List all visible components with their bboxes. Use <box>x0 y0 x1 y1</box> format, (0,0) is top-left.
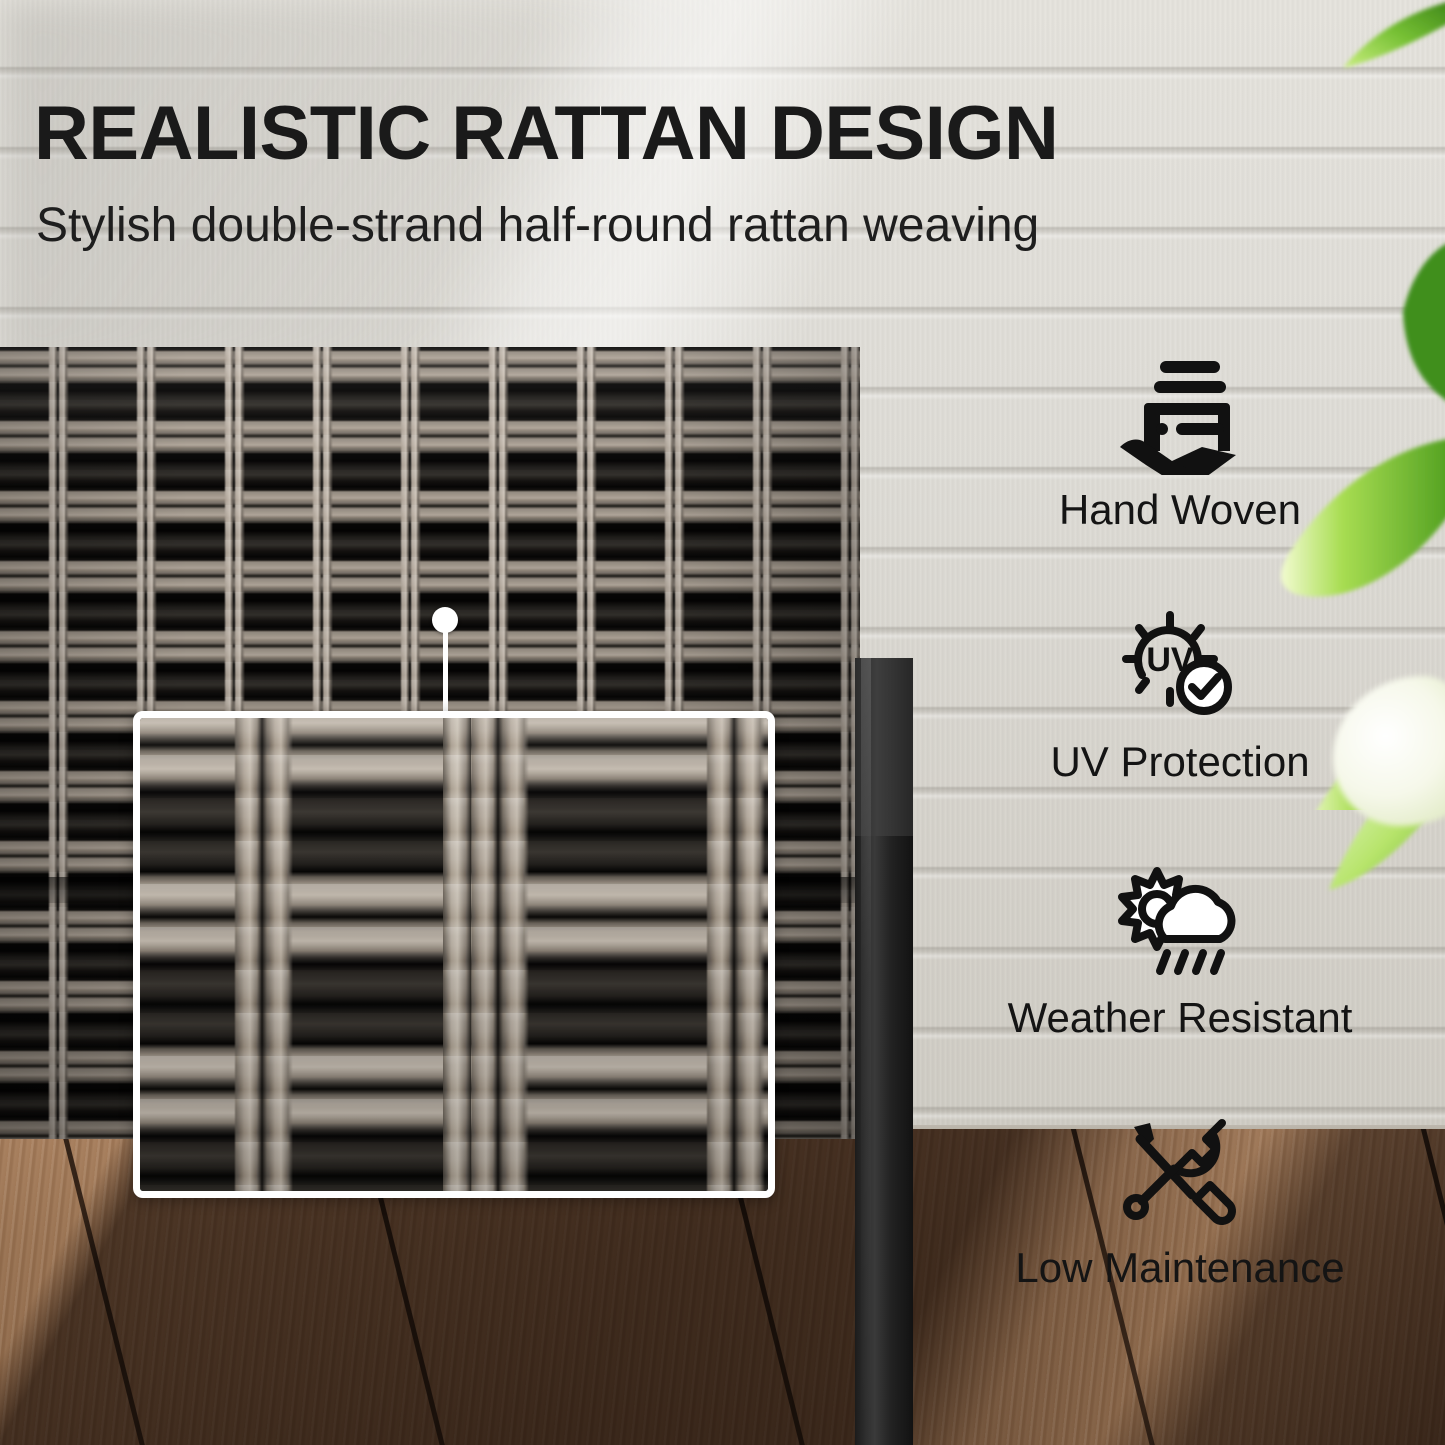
feature-label: Low Maintenance <box>930 1244 1430 1292</box>
page-title: REALISTIC RATTAN DESIGN <box>34 96 1214 172</box>
black-metal-leg <box>855 658 913 1445</box>
low-maintenance-icon <box>930 1110 1430 1238</box>
weather-resistant-icon <box>930 860 1430 988</box>
uv-protection-icon: UV <box>930 604 1430 732</box>
feature-label: Hand Woven <box>930 486 1430 534</box>
rattan-weave-zoom-detail <box>133 711 775 1198</box>
feature-item-uv-protection: UV UV Protection <box>930 604 1430 786</box>
feature-list: Hand Woven UV <box>930 352 1430 1362</box>
product-feature-image: REALISTIC RATTAN DESIGN Stylish double-s… <box>0 0 1445 1445</box>
feature-item-low-maintenance: Low Maintenance <box>930 1110 1430 1292</box>
feature-item-weather-resistant: Weather Resistant <box>930 860 1430 1042</box>
hand-woven-icon <box>930 352 1430 480</box>
metal-leg-highlight <box>861 658 871 1445</box>
feature-item-hand-woven: Hand Woven <box>930 352 1430 534</box>
feature-label: Weather Resistant <box>930 994 1430 1042</box>
callout-pin-stem <box>443 629 448 715</box>
page-subtitle: Stylish double-strand half-round rattan … <box>36 200 1256 253</box>
feature-label: UV Protection <box>930 738 1430 786</box>
macro-shading <box>140 718 768 1191</box>
